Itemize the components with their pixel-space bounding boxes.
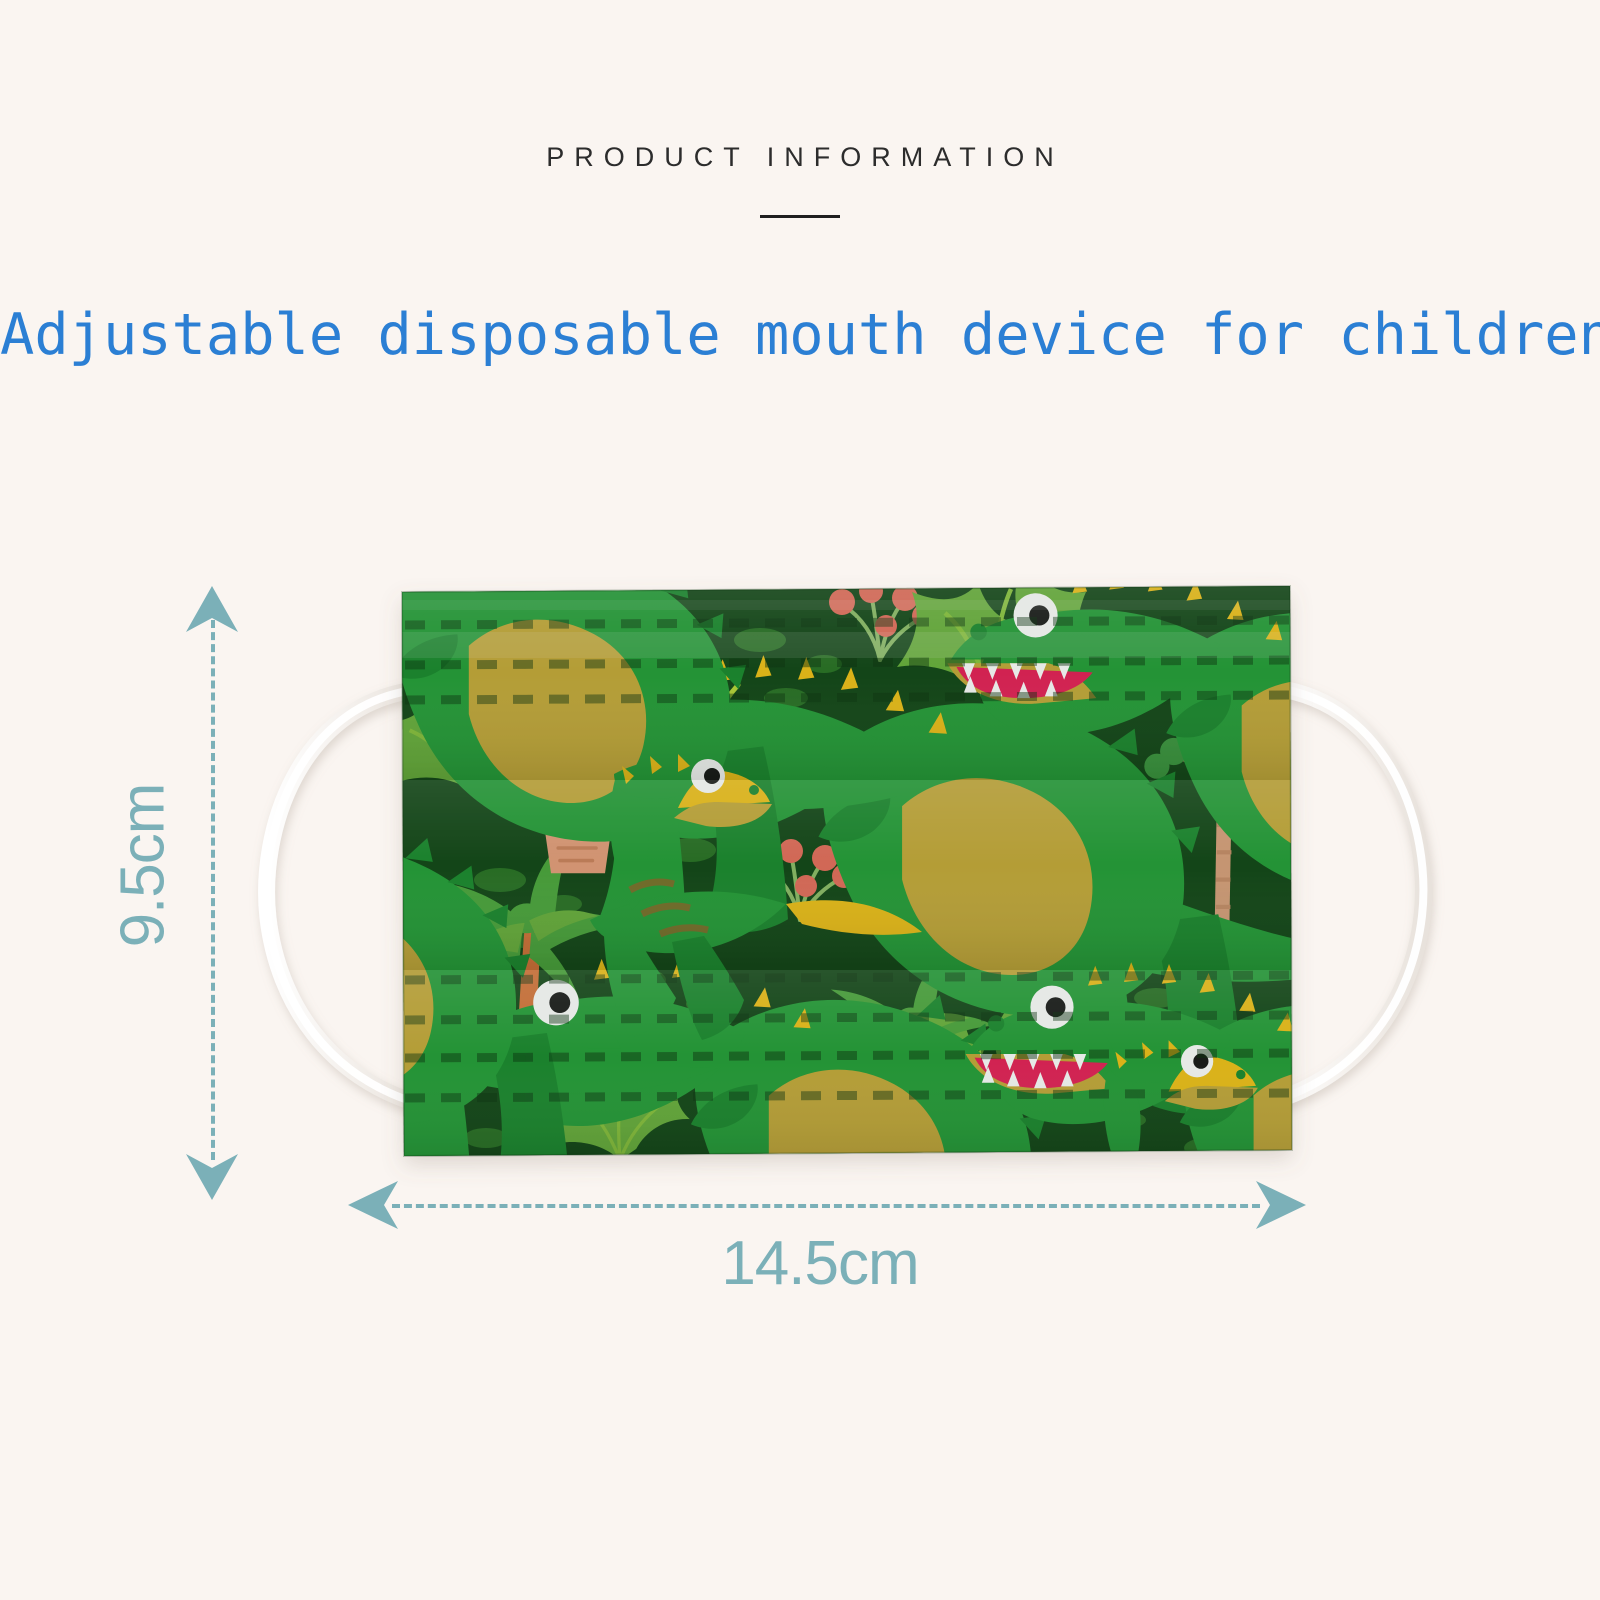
width-dimension-label: 14.5cm [560,1228,1080,1299]
height-dimension-label: 9.5cm [108,716,179,1016]
product-information-page: PRODUCT INFORMATION Adjustable disposabl… [0,0,1600,1600]
height-arrow-down-icon [186,1152,238,1200]
width-arrow-right-icon [1254,1181,1306,1229]
height-arrow-up-icon [186,586,238,634]
mask-body [402,586,1292,1156]
product-headline: Adjustable disposable mouth device for c… [0,302,1600,368]
height-dimension-line [211,620,215,1160]
ear-loop-left [267,690,420,1104]
width-arrow-left-icon [348,1181,400,1229]
ear-loop-right [1270,688,1423,1102]
section-eyebrow-label: PRODUCT INFORMATION [0,142,1600,173]
header-divider [760,215,840,218]
width-dimension-line [392,1204,1260,1208]
product-image-mask [0,0,1600,1600]
